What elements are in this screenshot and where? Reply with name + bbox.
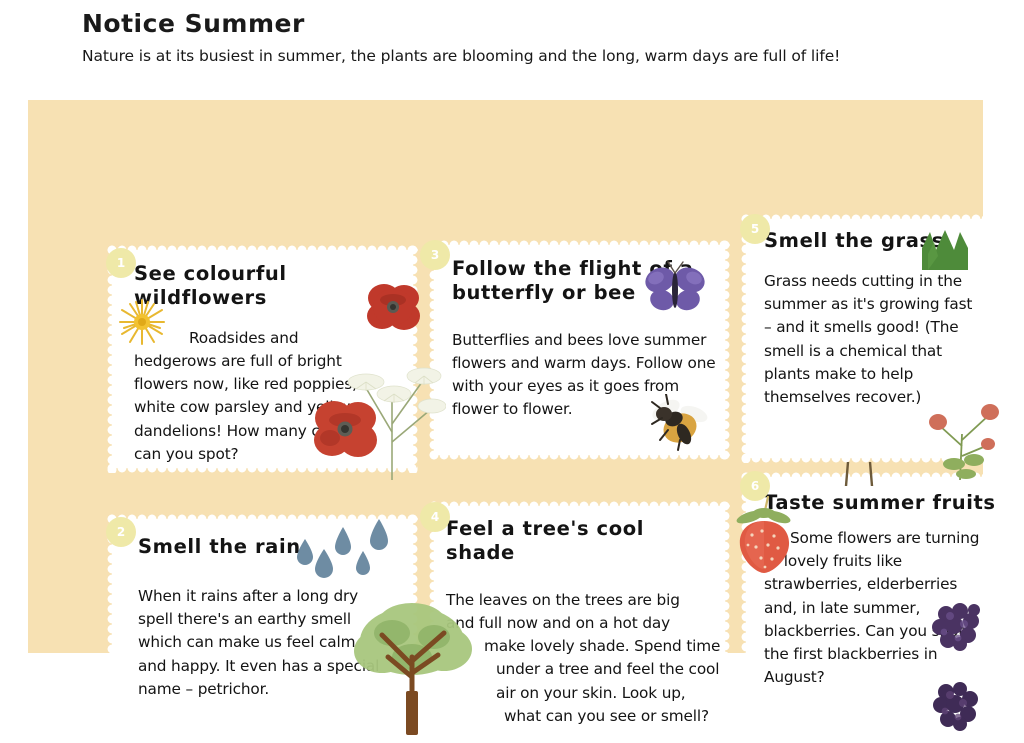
- card-number-badge-5: 5: [740, 214, 770, 244]
- card-title: Follow the flight of a butterfly or bee: [452, 257, 711, 305]
- card-body-line: and full now and on a hot day: [446, 612, 721, 635]
- card-number-badge-1: 1: [106, 248, 136, 278]
- card-body: Butterflies and bees love summer flowers…: [452, 329, 720, 422]
- card-body-line: air on your skin. Look up,: [446, 682, 721, 705]
- card-title: Feel a tree's cool shade: [446, 517, 711, 565]
- activity-card-3[interactable]: Follow the flight of a butterfly or bee …: [434, 245, 725, 455]
- card-body: When it rains after a long dry spell the…: [138, 585, 388, 701]
- card-body-line: under a tree and feel the cool: [446, 658, 721, 681]
- card-body: Some flowers are turning to lovely fruit…: [764, 527, 984, 690]
- activity-card-1[interactable]: See colourful wildflowers Roadsides and …: [112, 250, 413, 468]
- activity-card-5[interactable]: Smell the grass Grass needs cutting in t…: [746, 219, 1009, 458]
- card-title: Taste summer fruits: [764, 491, 997, 515]
- activity-card-6[interactable]: Taste summer fruits Some flowers are tur…: [746, 477, 1009, 722]
- activity-card-4[interactable]: Feel a tree's cool shade The leaves on t…: [434, 506, 725, 718]
- card-title: See colourful wildflowers: [134, 262, 399, 310]
- page-header: Notice Summer Nature is at its busiest i…: [82, 10, 982, 65]
- activity-card-2[interactable]: Smell the rain When it rains after a lon…: [112, 519, 413, 727]
- card-body-line: make lovely shade. Spend time: [446, 635, 721, 658]
- card-body-line: The leaves on the trees are big: [446, 589, 721, 612]
- card-body: Grass needs cutting in the summer as it'…: [764, 270, 984, 410]
- card-body: Roadsides and hedgerows are full of brig…: [134, 327, 377, 467]
- page-title: Notice Summer: [82, 10, 982, 38]
- card-body-line: what can you see or smell?: [446, 705, 721, 728]
- card-number-badge-3: 3: [420, 240, 450, 270]
- card-title: Smell the rain: [138, 535, 399, 559]
- card-number-badge-6: 6: [740, 471, 770, 501]
- card-title: Smell the grass: [764, 229, 997, 253]
- card-body: The leaves on the trees are big and full…: [446, 589, 721, 729]
- card-number-badge-4: 4: [420, 502, 450, 532]
- card-number-badge-2: 2: [106, 517, 136, 547]
- content-panel: See colourful wildflowers Roadsides and …: [28, 100, 983, 653]
- page-subtitle: Nature is at its busiest in summer, the …: [82, 47, 982, 66]
